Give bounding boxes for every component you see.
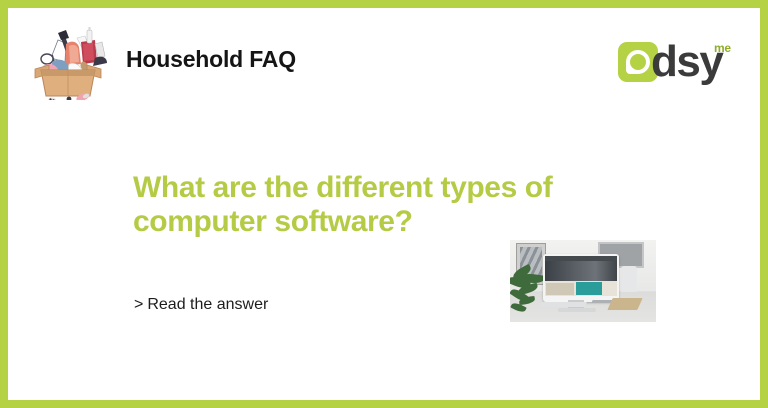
photo-monitor-screen (545, 256, 617, 296)
photo-monitor-base (558, 308, 596, 312)
adsy-logo-superscript: me (714, 41, 731, 55)
photo-lamp (621, 266, 637, 292)
adsy-logo-wordmark: dsy (651, 34, 722, 90)
chevron-right-icon: > (134, 296, 143, 313)
photo-notebook (607, 298, 642, 310)
faq-question-headline: What are the different types of computer… (133, 171, 678, 239)
read-the-answer-link[interactable]: >Read the answer (134, 296, 268, 314)
page-header: Household FAQ dsy me (8, 8, 760, 112)
photo-keyboard (539, 302, 587, 307)
adsy-logo[interactable]: dsy me (618, 34, 736, 90)
imac-desk-photo[interactable] (510, 240, 656, 322)
faq-card: Household FAQ dsy me What are the differ… (8, 8, 760, 400)
adsy-logo-a-counter (626, 50, 650, 74)
moving-box-household-items-icon (25, 22, 111, 100)
read-the-answer-label: Read the answer (147, 296, 268, 313)
photo-monitor (543, 254, 619, 302)
page-title: Household FAQ (126, 46, 296, 73)
